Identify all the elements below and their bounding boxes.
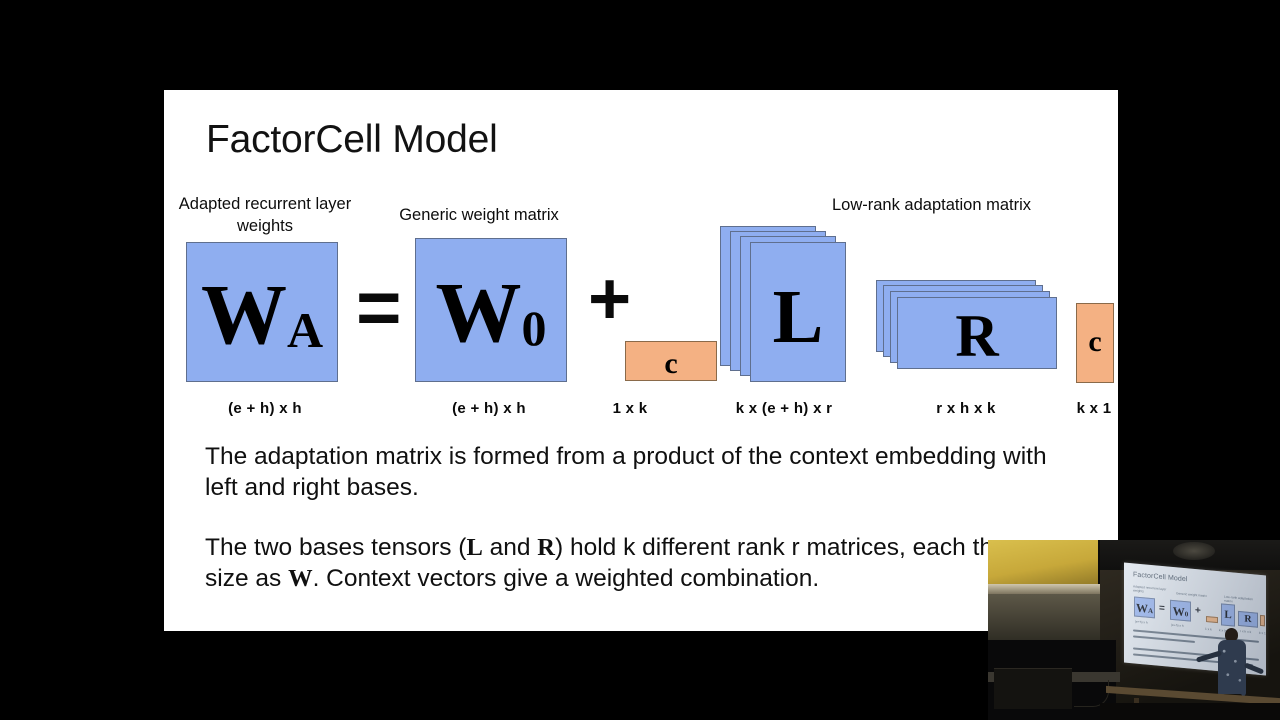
dimension-label-l: k x (e + h) x r xyxy=(694,400,874,417)
para2-symbol-l: L xyxy=(466,534,482,561)
vector-c-column-box: c xyxy=(1076,303,1114,383)
vector-c-row-box: c xyxy=(625,341,717,381)
para2-symbol-r: R xyxy=(537,534,555,561)
presenter-torso xyxy=(1218,640,1246,696)
glyph-subscript-a: A xyxy=(287,302,323,358)
pip-ceiling-light xyxy=(988,540,1098,588)
matrix-w0-box: W0 xyxy=(415,238,567,382)
dimension-label-w0: (e + h) x h xyxy=(394,400,584,417)
para2-symbol-w: W xyxy=(288,565,313,592)
matrix-wa-glyph: WA xyxy=(187,271,337,357)
body-paragraph-2: The two bases tensors (L and R) hold k d… xyxy=(205,533,1085,595)
tensor-l-layer-front: L xyxy=(750,242,846,382)
tensor-r-stack: R xyxy=(876,280,1066,400)
tensor-l-stack: L xyxy=(720,226,880,386)
caption-generic-weight-matrix: Generic weight matrix xyxy=(379,204,579,226)
pip-podium xyxy=(994,668,1072,709)
glyph-w: W xyxy=(201,266,287,362)
body-paragraph-1: The adaptation matrix is formed from a p… xyxy=(205,442,1085,504)
presenter-video-overlay[interactable]: FactorCell Model Adapted recurrent layer… xyxy=(988,540,1280,720)
presentation-slide: FactorCell Model Adapted recurrent layer… xyxy=(164,90,1118,631)
page-title: FactorCell Model xyxy=(206,118,498,162)
glyph-w: W xyxy=(436,264,522,360)
dimension-label-wa: (e + h) x h xyxy=(170,400,360,417)
para2-text-b: and xyxy=(483,534,538,561)
plus-operator: + xyxy=(588,262,631,336)
caption-adapted-recurrent-layer-weights: Adapted recurrent layer weights xyxy=(175,193,355,238)
tensor-r-layer-front: R xyxy=(897,297,1057,369)
caption-low-rank-adaptation-matrix: Low-rank adaptation matrix xyxy=(764,194,1099,216)
equals-operator: = xyxy=(356,268,402,346)
dimension-label-c-column: k x 1 xyxy=(1044,400,1118,417)
dimension-label-r: r x h x k xyxy=(876,400,1056,417)
glyph-subscript-0: 0 xyxy=(522,300,547,356)
matrix-w0-glyph: W0 xyxy=(416,269,566,355)
tensor-r-glyph: R xyxy=(898,306,1056,366)
video-player-stage: FactorCell Model Adapted recurrent layer… xyxy=(0,0,1280,720)
pip-wall-left xyxy=(988,594,1108,646)
para2-text-a: The two bases tensors ( xyxy=(205,534,466,561)
tensor-l-glyph: L xyxy=(751,279,845,355)
vector-c-row-glyph: c xyxy=(626,349,716,379)
pip-floor xyxy=(1100,703,1280,720)
pip-light-glow xyxy=(1173,542,1215,560)
dimension-label-c-row: 1 x k xyxy=(570,400,690,417)
matrix-wa-box: WA xyxy=(186,242,338,382)
para2-text-d: . Context vectors give a weighted combin… xyxy=(313,565,820,592)
vector-c-column-glyph: c xyxy=(1077,327,1113,357)
